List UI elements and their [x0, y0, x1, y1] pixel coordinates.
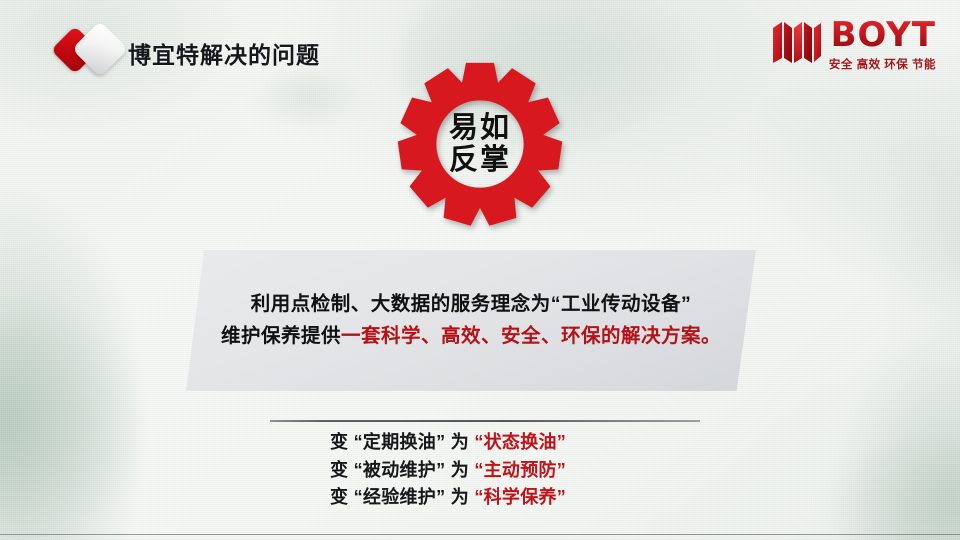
- page-title: 博宜特解决的问题: [128, 36, 320, 70]
- transformation-item-3-accent: “科学保养”: [474, 487, 566, 507]
- transformation-item-3: 变 “经验维护” 为 “科学保养”: [330, 485, 660, 511]
- statement-line-1: 利用点检制、大数据的服务理念为“工业传动设备”: [251, 294, 692, 315]
- slide-bottom-rule: [0, 534, 960, 535]
- transformation-item-3-prefix: 变 “经验维护” 为: [330, 487, 474, 507]
- boyt-folded-panels-icon: [771, 20, 823, 64]
- brand-text-block: BOYT 安全 高效 环保 节能: [829, 18, 936, 72]
- transformation-item-2: 变 “被动维护” 为 “主动预防”: [330, 458, 660, 484]
- statement-panel-text: 利用点检制、大数据的服务理念为“工业传动设备” 维护保养提供一套科学、高效、安全…: [186, 250, 756, 391]
- brand-tagline: 安全 高效 环保 节能: [829, 56, 936, 72]
- transformation-item-2-accent: “主动预防”: [474, 460, 566, 480]
- brand-name: BOYT: [831, 18, 936, 52]
- statement-line-2-prefix: 维护保养提供: [221, 325, 341, 347]
- transformation-item-1: 变 “定期换油” 为 “状态换油”: [330, 430, 660, 456]
- slide-canvas: 博宜特解决的问题 BOYT 安全 高效 环保 节能: [0, 0, 960, 540]
- gear-label-line-2: 反掌: [449, 145, 511, 175]
- statement-line-2-accent: 一套科学、高效、安全、环保的解决方案。: [341, 325, 721, 347]
- gear-label-line-1: 易如: [449, 113, 511, 143]
- transformation-list: 变 “定期换油” 为 “状态换油” 变 “被动维护” 为 “主动预防” 变 “经…: [330, 430, 660, 511]
- gear-emblem: 易如 反掌: [396, 60, 564, 228]
- section-divider: [270, 420, 700, 422]
- transformation-item-1-accent: “状态换油”: [474, 432, 566, 452]
- statement-line-2: 维护保养提供一套科学、高效、安全、环保的解决方案。: [221, 326, 721, 347]
- statement-panel: 利用点检制、大数据的服务理念为“工业传动设备” 维护保养提供一套科学、高效、安全…: [186, 250, 756, 391]
- transformation-item-1-prefix: 变 “定期换油” 为: [330, 432, 474, 452]
- brand-logo: BOYT 安全 高效 环保 节能: [771, 18, 936, 76]
- gear-label: 易如 反掌: [396, 60, 564, 228]
- transformation-item-2-prefix: 变 “被动维护” 为: [330, 460, 474, 480]
